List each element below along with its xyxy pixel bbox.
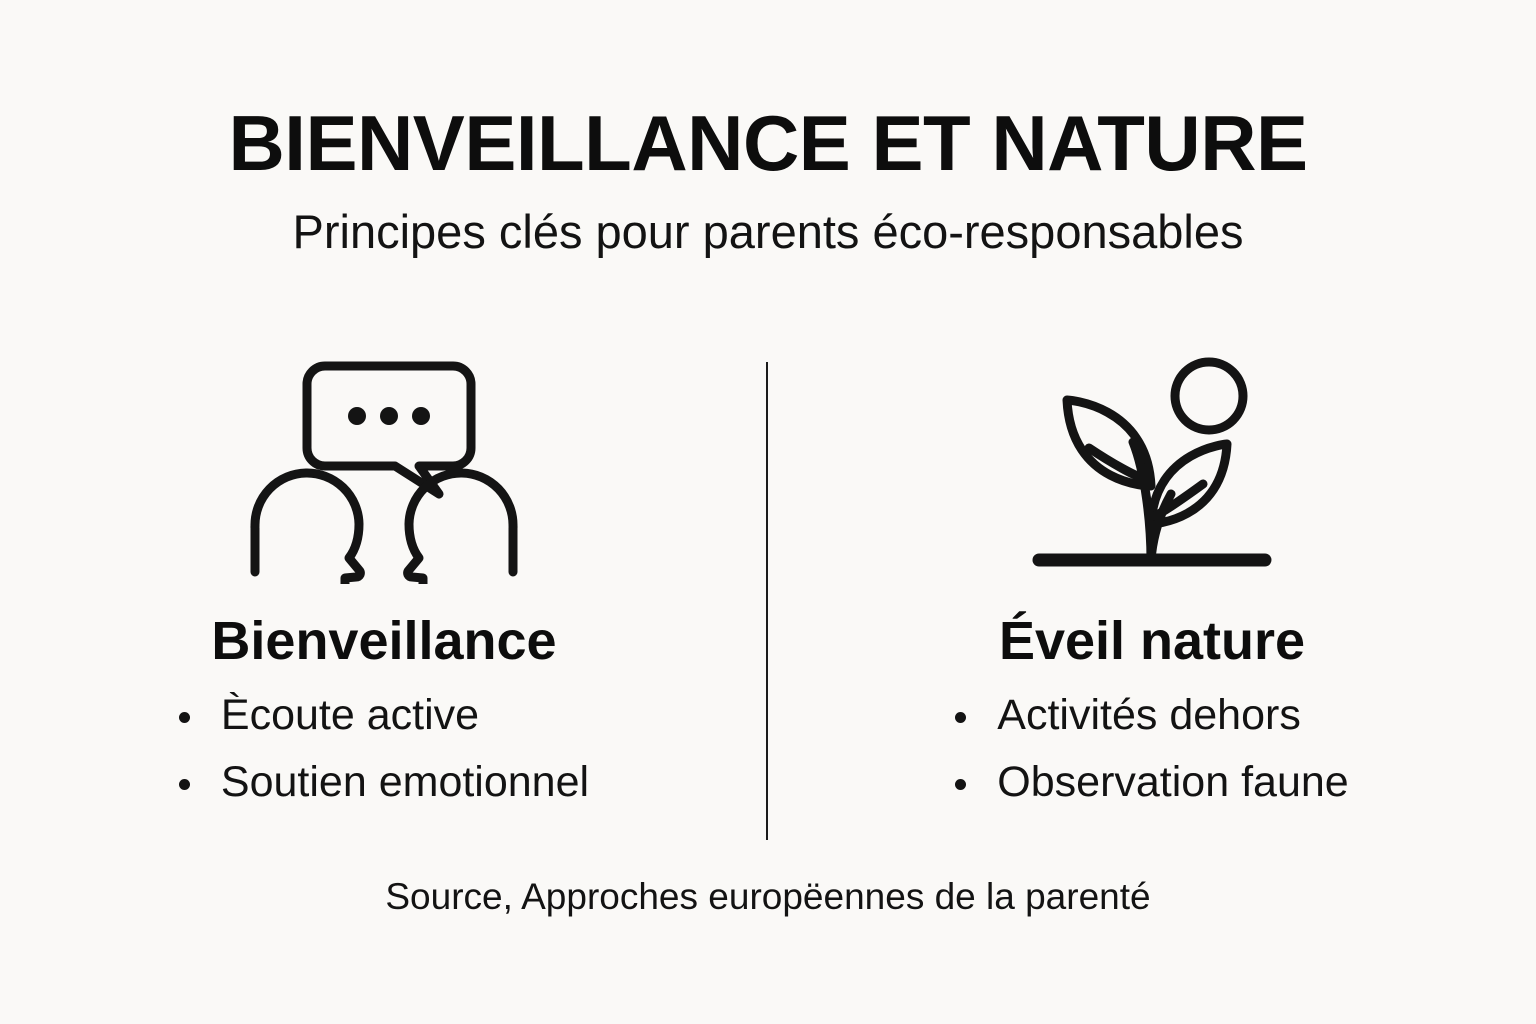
column-title-eveil-nature: Éveil nature [999, 584, 1305, 668]
list-item: Activités dehors [955, 694, 1348, 737]
list-item-label: Observation faune [997, 758, 1348, 806]
source-attribution: Source, Approches europëennes de la pare… [0, 878, 1536, 915]
plant-icon-graphic [1027, 352, 1277, 584]
bullet-list-bienveillance: Ècoute active Soutien emotionnel [179, 668, 589, 804]
page-title: BIENVEILLANCE ET NATURE [0, 104, 1536, 182]
column-bienveillance: Bienveillance Ècoute active Soutien emot… [0, 352, 768, 852]
column-title-bienveillance: Bienveillance [211, 584, 556, 668]
two-heads-speech-bubble-icon [239, 352, 529, 584]
bullet-dot-icon [955, 712, 966, 723]
list-item-label: Ècoute active [221, 691, 479, 739]
sprout-sun-icon [1027, 352, 1277, 584]
page-subtitle: Principes clés pour parents éco-responsa… [0, 182, 1536, 255]
list-item: Soutien emotionnel [179, 761, 589, 804]
columns-container: Bienveillance Ècoute active Soutien emot… [0, 352, 1536, 852]
conversation-icon-graphic [239, 352, 529, 584]
infographic-poster: BIENVEILLANCE ET NATURE Principes clés p… [0, 0, 1536, 1024]
bullet-dot-icon [179, 779, 190, 790]
bullet-list-eveil-nature: Activités dehors Observation faune [955, 668, 1348, 804]
sun-circle-icon [1175, 362, 1243, 430]
header: BIENVEILLANCE ET NATURE Principes clés p… [0, 104, 1536, 255]
bullet-dot-icon [955, 779, 966, 790]
bullet-dot-icon [179, 712, 190, 723]
list-item: Ècoute active [179, 694, 589, 737]
list-item: Observation faune [955, 761, 1348, 804]
list-item-label: Soutien emotionnel [221, 758, 589, 806]
list-item-label: Activités dehors [997, 691, 1301, 739]
column-eveil-nature: Éveil nature Activités dehors Observatio… [768, 352, 1536, 852]
footer: Source, Approches europëennes de la pare… [0, 878, 1536, 915]
